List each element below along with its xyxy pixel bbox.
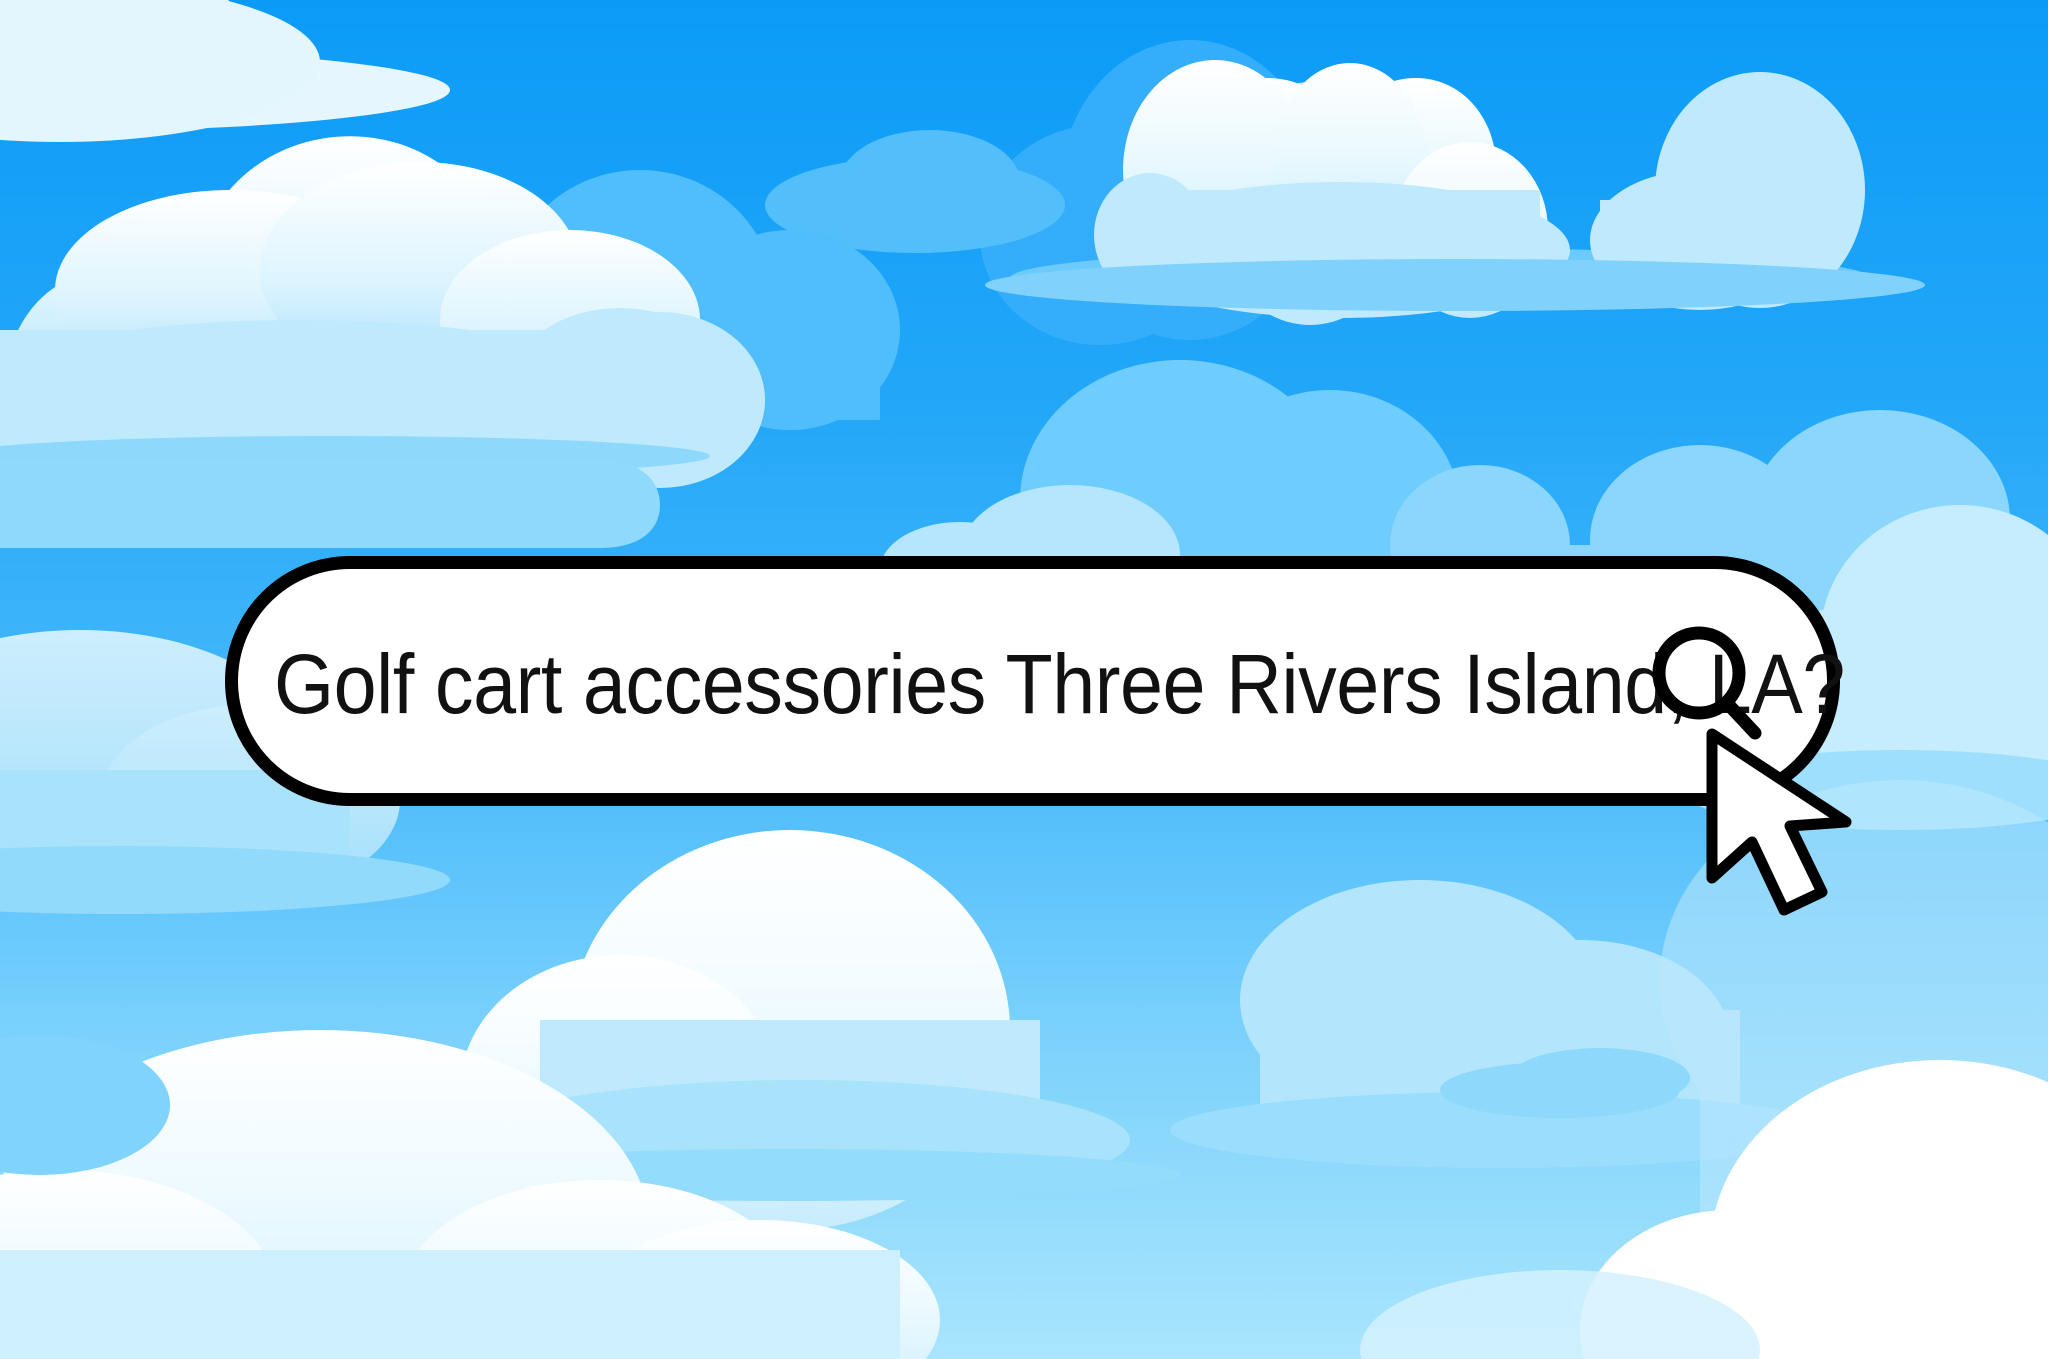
magnifier-glyph [1651,625,1771,755]
cloud-mid-left-band [0,460,660,548]
illustration-canvas: Golf cart accessories Three Rivers Islan… [0,0,2048,1359]
search-icon[interactable] [1651,625,1771,755]
search-input-value[interactable]: Golf cart accessories Three Rivers Islan… [274,636,1845,726]
search-bar[interactable]: Golf cart accessories Three Rivers Islan… [225,556,1840,806]
